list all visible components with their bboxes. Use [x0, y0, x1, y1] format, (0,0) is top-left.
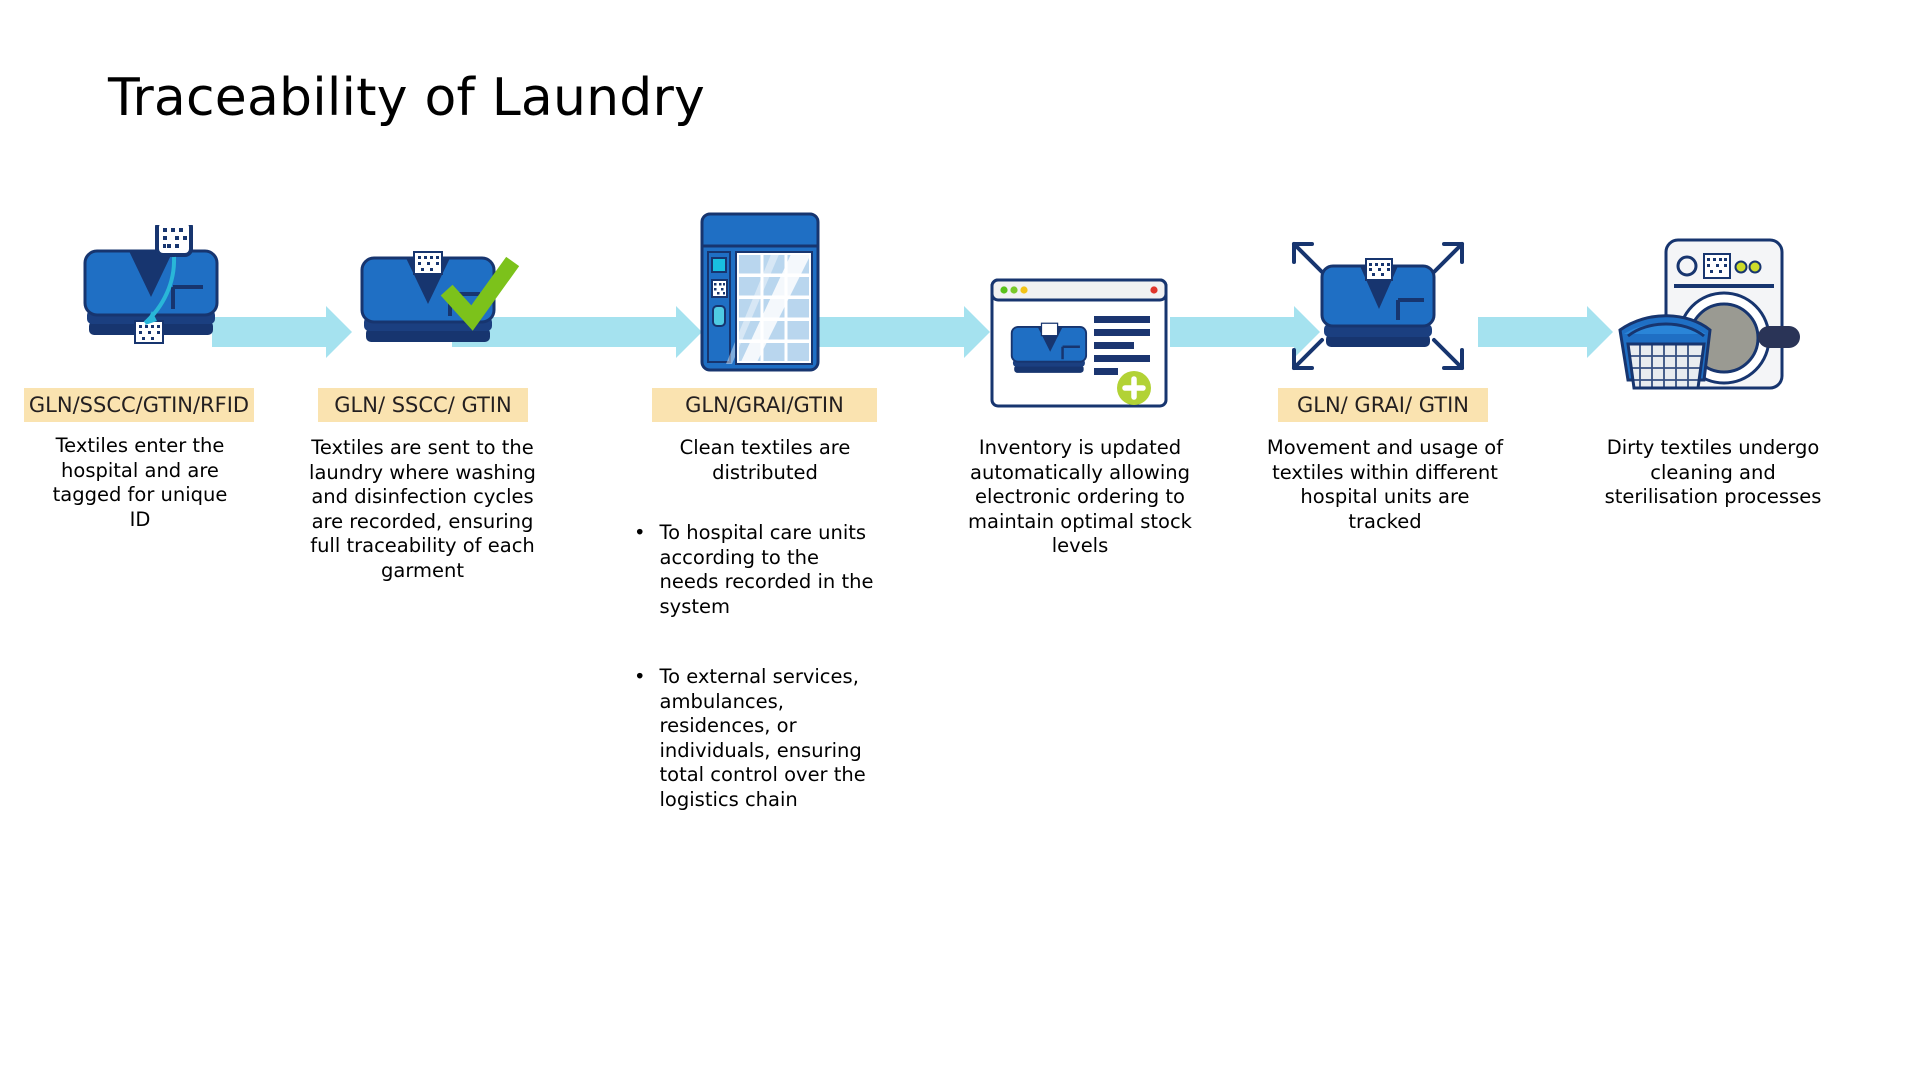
step-6-description: Dirty textiles undergo cleaning and ster… [1598, 436, 1828, 510]
folded-garment-with-green-check-icon [352, 250, 522, 365]
step-3-icon [700, 212, 820, 372]
bullet-text: To hospital care units according to the … [660, 521, 884, 619]
arrow-shaft [810, 317, 966, 347]
step-5-description: Movement and usage of textiles within di… [1265, 436, 1505, 534]
step-2-description: Textiles are sent to the laundry where w… [295, 436, 550, 583]
step-1-code-chip: GLN/SSCC/GTIN/RFID [24, 388, 254, 422]
step-4-description: Inventory is updated automatically allow… [955, 436, 1205, 559]
slide-canvas: Traceability of Laundry [0, 0, 1920, 1080]
step-3-code-chip: GLN/GRAI/GTIN [652, 388, 877, 422]
browser-window-inventory-with-add-badge-icon [990, 278, 1168, 408]
step-5-code-chip: GLN/ GRAI/ GTIN [1278, 388, 1488, 422]
arrow-head [964, 306, 990, 358]
step-1-icon [75, 225, 235, 365]
bullet-marker: • [634, 665, 646, 812]
bullet-text: To external services, ambulances, reside… [660, 665, 884, 812]
textile-dispensing-cabinet-icon [700, 212, 820, 372]
step-4-icon [990, 278, 1168, 408]
step-3-description: Clean textiles are distributed [650, 436, 880, 485]
step-2-code-chip: GLN/ SSCC/ GTIN [318, 388, 528, 422]
washing-machine-with-laundry-basket-icon [1618, 238, 1800, 390]
page-title: Traceability of Laundry [108, 68, 705, 128]
step-6-icon [1618, 238, 1800, 390]
step-3-bullet-list: • To hospital care units according to th… [634, 497, 884, 812]
arrow-shaft [1170, 317, 1296, 347]
folded-garment-with-datamatrix-tag-and-arrow-icon [75, 225, 235, 365]
flow-arrow-5 [1478, 306, 1613, 358]
step-1-description: Textiles enter the hospital and are tagg… [40, 434, 240, 532]
step-5-icon [1288, 240, 1468, 372]
folded-garment-with-tracking-corners-icon [1288, 240, 1468, 372]
arrow-head [326, 306, 352, 358]
list-item: • To external services, ambulances, resi… [634, 665, 884, 812]
bullet-marker: • [634, 521, 646, 619]
flow-arrow-3 [810, 306, 990, 358]
list-item: • To hospital care units according to th… [634, 521, 884, 619]
arrow-head [676, 306, 702, 358]
step-2-icon [352, 250, 522, 365]
arrow-shaft [1478, 317, 1589, 347]
arrow-head [1587, 306, 1613, 358]
